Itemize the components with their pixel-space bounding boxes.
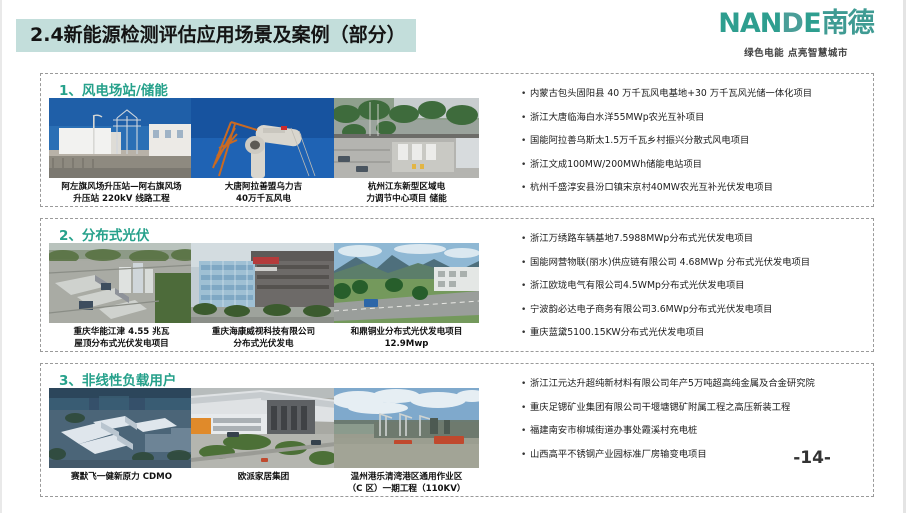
logo-tagline: 绿色电能 点亮智慧城市 xyxy=(708,45,884,59)
card-item[interactable]: 赛默飞一健新原力 CDMO xyxy=(49,388,194,484)
card-caption: 重庆华能江津 4.55 兆瓦屋顶分布式光伏发电项目 xyxy=(49,327,194,350)
card-caption: 赛默飞一健新原力 CDMO xyxy=(49,472,194,484)
section-2-title: 2、分布式光伏 xyxy=(59,224,149,244)
bullet-text: 国能网营物联(丽水)供应链有限公司 4.68MWp 分布式光伏发电项目 xyxy=(530,253,810,273)
card-item[interactable]: 重庆华能江津 4.55 兆瓦屋顶分布式光伏发电项目 xyxy=(49,243,194,350)
bullet-text: 重庆足锶矿业集团有限公司干堰塘锶矿附属工程之高压新装工程 xyxy=(530,398,790,418)
page-title-band: 2.4新能源检测评估应用场景及案例（部分） xyxy=(16,19,416,52)
bullet-text: 内蒙古包头固阳县 40 万千瓦风电基地+30 万千瓦风光储一体化项目 xyxy=(530,84,812,104)
bullet-text: 山西高平不锈钢产业园标准厂房输变电项目 xyxy=(530,445,707,465)
card-caption: 和鼎铜业分布式光伏发电项目12.9Mwp xyxy=(334,327,479,350)
bullet-item: • 内蒙古包头固阳县 40 万千瓦风电基地+30 万千瓦风光储一体化项目 xyxy=(521,84,866,108)
thumbnail-substation xyxy=(49,98,194,178)
logo-text-chinese: 南德 xyxy=(822,10,874,37)
bullet-text: 浙江江元达升超纯新材料有限公司年产5万吨超高纯金属及合金研究院 xyxy=(530,374,815,394)
bullet-item: • 杭州千盛淳安县汾口镇宋京村40MW农光互补光伏发电项目 xyxy=(521,178,866,202)
bullet-text: 浙江文成100MW/200MWh储能电站项目 xyxy=(530,155,702,175)
bullet-text: 国能阿拉善乌斯太1.5万千瓦乡村振兴分散式风电项目 xyxy=(530,131,749,151)
thumbnail-wind-turbine xyxy=(191,98,336,178)
bullet-dot: • xyxy=(521,374,530,394)
card-item[interactable]: 杭州江东新型区域电力调节中心项目 储能 xyxy=(334,98,479,205)
card-caption: 阿左旗风场升压站—阿右旗风场升压站 220kV 线路工程 xyxy=(49,182,194,205)
bullet-item: • 浙江欧珑电气有限公司4.5WMp分布式光伏发电项目 xyxy=(521,276,866,300)
bullet-item: • 宁波韵必达电子商务有限公司3.6MWp分布式光伏发电项目 xyxy=(521,300,866,324)
bullet-dot: • xyxy=(521,300,530,320)
thumbnail-aerial-green xyxy=(334,98,479,178)
section-nonlinear-load: 3、非线性负载用户 xyxy=(40,363,874,497)
card-caption: 欧派家居集团 xyxy=(191,472,336,484)
thumbnail-port xyxy=(334,388,479,468)
bullet-text: 重庆蓝黛5100.15KW分布式光伏发电项目 xyxy=(530,323,704,343)
bullet-item: • 国能网营物联(丽水)供应链有限公司 4.68MWp 分布式光伏发电项目 xyxy=(521,253,866,277)
bullet-item: • 浙江大唐临海白水洋55MWp农光互补项目 xyxy=(521,108,866,132)
bullet-item: • 重庆足锶矿业集团有限公司干堰塘锶矿附属工程之高压新装工程 xyxy=(521,398,866,422)
section-3-bullets: • 浙江江元达升超纯新材料有限公司年产5万吨超高纯金属及合金研究院 • 重庆足锶… xyxy=(521,374,866,490)
thumbnail-campus-render xyxy=(49,388,194,468)
bullet-dot: • xyxy=(521,178,530,198)
bullet-dot: • xyxy=(521,445,530,465)
brand-logo: NANDE南德 绿色电能 点亮智慧城市 xyxy=(708,10,884,59)
bullet-item: • 浙江江元达升超纯新材料有限公司年产5万吨超高纯金属及合金研究院 xyxy=(521,374,866,398)
thumbnail-factory-plaza xyxy=(191,388,336,468)
bullet-item: • 浙江万绣路车辆基地7.5988MWp分布式光伏发电项目 xyxy=(521,229,866,253)
bullet-dot: • xyxy=(521,84,530,104)
logo-text-d: D xyxy=(781,10,803,37)
bullet-item: • 浙江文成100MW/200MWh储能电站项目 xyxy=(521,155,866,179)
bullet-item: • 国能阿拉善乌斯太1.5万千瓦乡村振兴分散式风电项目 xyxy=(521,131,866,155)
card-item[interactable]: 大唐阿拉善盟乌力吉40万千瓦风电 xyxy=(191,98,336,205)
card-item[interactable]: 阿左旗风场升压站—阿右旗风场升压站 220kV 线路工程 xyxy=(49,98,194,205)
page-number: -14- xyxy=(793,448,831,468)
page-title: 2.4新能源检测评估应用场景及案例（部分） xyxy=(30,26,406,45)
bullet-dot: • xyxy=(521,398,530,418)
slide: 2.4新能源检测评估应用场景及案例（部分） NANDE南德 绿色电能 点亮智慧城… xyxy=(0,0,906,513)
bullet-text: 浙江万绣路车辆基地7.5988MWp分布式光伏发电项目 xyxy=(530,229,753,249)
logo-text-e: E xyxy=(803,10,820,37)
bullet-text: 宁波韵必达电子商务有限公司3.6MWp分布式光伏发电项目 xyxy=(530,300,772,320)
logo-text-nan: NAN xyxy=(718,10,781,37)
card-caption: 大唐阿拉善盟乌力吉40万千瓦风电 xyxy=(191,182,336,205)
section-2-bullets: • 浙江万绣路车辆基地7.5988MWp分布式光伏发电项目 • 国能网营物联(丽… xyxy=(521,229,866,345)
card-item[interactable]: 和鼎铜业分布式光伏发电项目12.9Mwp xyxy=(334,243,479,350)
bullet-dot: • xyxy=(521,229,530,249)
card-item[interactable]: 欧派家居集团 xyxy=(191,388,336,484)
section-3-cards: 赛默飞一健新原力 CDMO xyxy=(49,388,519,493)
slide-header: 2.4新能源检测评估应用场景及案例（部分） NANDE南德 绿色电能 点亮智慧城… xyxy=(2,0,906,66)
section-1-bullets: • 内蒙古包头固阳县 40 万千瓦风电基地+30 万千瓦风光储一体化项目 • 浙… xyxy=(521,84,866,200)
section-distributed-pv: 2、分布式光伏 xyxy=(40,218,874,352)
thumbnail-aerial-industrial xyxy=(49,243,194,323)
bullet-dot: • xyxy=(521,323,530,343)
bullet-dot: • xyxy=(521,155,530,175)
bullet-text: 浙江欧珑电气有限公司4.5WMp分布式光伏发电项目 xyxy=(530,276,745,296)
bullet-item: • 重庆蓝黛5100.15KW分布式光伏发电项目 xyxy=(521,323,866,347)
bullet-text: 浙江大唐临海白水洋55MWp农光互补项目 xyxy=(530,108,704,128)
bullet-dot: • xyxy=(521,276,530,296)
logo-wordmark: NANDE南德 xyxy=(708,10,884,37)
card-caption: 重庆海康威视科技有限公司分布式光伏发电 xyxy=(191,327,336,350)
bullet-dot: • xyxy=(521,253,530,273)
bullet-dot: • xyxy=(521,421,530,441)
card-caption: 杭州江东新型区域电力调节中心项目 储能 xyxy=(334,182,479,205)
thumbnail-office-building xyxy=(191,243,336,323)
section-2-cards: 重庆华能江津 4.55 兆瓦屋顶分布式光伏发电项目 xyxy=(49,243,519,348)
card-caption: 温州港乐清湾港区通用作业区（C 区）一期工程（110KV） xyxy=(334,472,479,495)
card-item[interactable]: 温州港乐清湾港区通用作业区（C 区）一期工程（110KV） xyxy=(334,388,479,495)
bullet-dot: • xyxy=(521,131,530,151)
card-item[interactable]: 重庆海康威视科技有限公司分布式光伏发电 xyxy=(191,243,336,350)
section-1-cards: 阿左旗风场升压站—阿右旗风场升压站 220kV 线路工程 xyxy=(49,98,519,203)
bullet-text: 福建南安市柳城街道办事处霞溪村充电桩 xyxy=(530,421,697,441)
thumbnail-mountain-road xyxy=(334,243,479,323)
bullet-item: • 福建南安市柳城街道办事处霞溪村充电桩 xyxy=(521,421,866,445)
section-wind-storage: 1、风电场站/储能 xyxy=(40,73,874,207)
section-1-title: 1、风电场站/储能 xyxy=(59,79,168,99)
section-3-title: 3、非线性负载用户 xyxy=(59,369,176,389)
bullet-text: 杭州千盛淳安县汾口镇宋京村40MW农光互补光伏发电项目 xyxy=(530,178,773,198)
bullet-dot: • xyxy=(521,108,530,128)
